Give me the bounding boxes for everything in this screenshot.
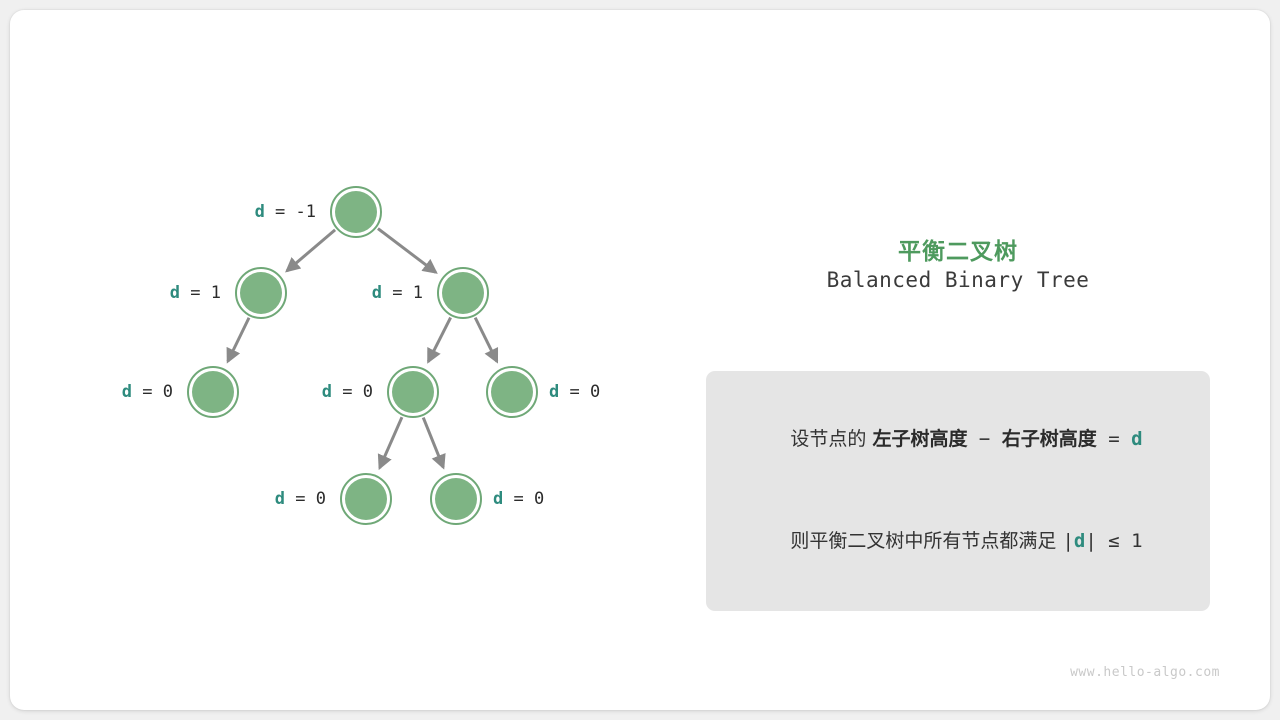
node-balance-value: = 0 xyxy=(285,489,326,509)
node-balance-value: = 1 xyxy=(382,283,423,303)
panel-subtitle: Balanced Binary Tree xyxy=(670,268,1246,292)
node-balance-value: = 0 xyxy=(559,382,600,402)
tree-node-fill xyxy=(335,191,377,233)
screenshot-stage: d = -1d = 1d = 1d = 0d = 0d = 0d = 0d = … xyxy=(0,0,1280,720)
definition-line-2: 则平衡二叉树中所有节点都满足 |d| ≤ 1 xyxy=(730,490,1186,592)
panel-title: 平衡二叉树 xyxy=(670,232,1246,266)
tree-edge xyxy=(380,417,402,468)
definition-line1-prefix: 设节点的 xyxy=(790,428,872,450)
node-balance-value: = 0 xyxy=(332,382,373,402)
binary-tree-diagram: d = -1d = 1d = 1d = 0d = 0d = 0d = 0d = … xyxy=(10,10,670,710)
watermark: www.hello-algo.com xyxy=(1070,665,1220,680)
definition-line1-equals: = xyxy=(1097,428,1131,450)
definition-line2-variable: d xyxy=(1074,530,1085,552)
tree-svg xyxy=(10,10,670,710)
node-balance-variable: d xyxy=(255,202,265,222)
node-balance-variable: d xyxy=(275,489,285,509)
tree-node-fill xyxy=(442,272,484,314)
definition-line2-prefix: 则平衡二叉树中所有节点都满足 xyxy=(790,530,1062,552)
definition-box: 设节点的 左子树高度 − 右子树高度 = d 则平衡二叉树中所有节点都满足 |d… xyxy=(706,371,1210,611)
node-balance-variable: d xyxy=(493,489,503,509)
definition-line1-variable: d xyxy=(1131,428,1142,450)
tree-edge xyxy=(378,229,436,273)
tree-node[interactable] xyxy=(431,474,481,524)
node-balance-label: d = 0 xyxy=(10,382,373,402)
definition-line2-bar-close: | xyxy=(1085,530,1096,552)
node-balance-value: = 0 xyxy=(503,489,544,509)
node-balance-label: d = 0 xyxy=(10,489,326,509)
definition-line2-bar-open: | xyxy=(1062,530,1073,552)
tree-edges xyxy=(228,229,497,468)
definition-line2-operator: ≤ 1 xyxy=(1097,530,1143,552)
node-balance-label: d = 0 xyxy=(493,489,544,509)
info-panel: 平衡二叉树 Balanced Binary Tree 设节点的 左子树高度 − … xyxy=(670,10,1270,710)
tree-edge xyxy=(423,418,443,468)
node-balance-value: = -1 xyxy=(265,202,316,222)
node-balance-variable: d xyxy=(549,382,559,402)
tree-node[interactable] xyxy=(487,367,537,417)
tree-edge xyxy=(228,318,249,362)
definition-line1-bold-left: 左子树高度 xyxy=(872,428,967,450)
content-card: d = -1d = 1d = 1d = 0d = 0d = 0d = 0d = … xyxy=(10,10,1270,710)
definition-line1-minus: − xyxy=(967,428,1001,450)
tree-edge xyxy=(287,230,335,271)
tree-node-fill xyxy=(392,371,434,413)
definition-line-1: 设节点的 左子树高度 − 右子树高度 = d xyxy=(730,388,1186,490)
node-balance-label: d = 1 xyxy=(10,283,423,303)
tree-nodes xyxy=(188,187,537,524)
tree-node-fill xyxy=(345,478,387,520)
tree-node-fill xyxy=(435,478,477,520)
tree-node[interactable] xyxy=(438,268,488,318)
node-balance-variable: d xyxy=(322,382,332,402)
tree-node[interactable] xyxy=(388,367,438,417)
tree-node[interactable] xyxy=(341,474,391,524)
node-balance-variable: d xyxy=(372,283,382,303)
tree-node-fill xyxy=(491,371,533,413)
tree-node[interactable] xyxy=(331,187,381,237)
node-balance-label: d = 0 xyxy=(549,382,600,402)
tree-edge xyxy=(475,318,497,362)
definition-line1-bold-right: 右子树高度 xyxy=(1002,428,1097,450)
node-balance-label: d = -1 xyxy=(10,202,316,222)
tree-edge xyxy=(428,318,450,362)
